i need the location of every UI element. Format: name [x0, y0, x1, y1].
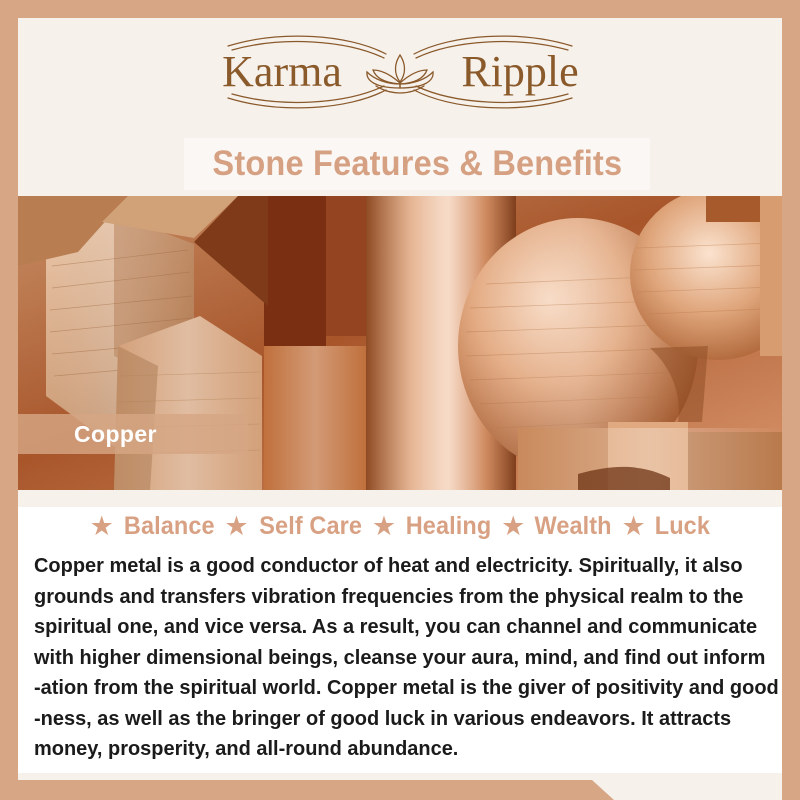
frame-left-border: [0, 0, 18, 800]
benefit-label: Self Care: [256, 512, 364, 541]
logo-word-ripple: Ripple: [461, 47, 578, 96]
star-icon: ★: [220, 513, 252, 540]
benefit-balance: ★ Balance: [86, 512, 221, 541]
frame-top-border: [0, 0, 800, 18]
description-line: money, prosperity, and all-round abundan…: [34, 734, 744, 765]
star-icon: ★: [368, 513, 400, 540]
description-line: grounds and transfers vibration frequenc…: [34, 582, 744, 613]
title-band: Stone Features & Benefits: [18, 126, 782, 196]
lotus-icon: [367, 55, 433, 93]
frame-right-border: [782, 0, 800, 800]
benefit-healing: ★ Healing: [368, 512, 497, 541]
star-icon: ★: [617, 513, 649, 540]
benefits-row: ★ Balance ★ Self Care ★ Healing ★ Wealth…: [18, 507, 782, 541]
photo-caption-label: Copper: [18, 421, 157, 448]
benefit-label: Wealth: [532, 512, 615, 541]
brand-logo: Karma Ripple: [18, 18, 782, 126]
description-line: Copper metal is a good conductor of heat…: [34, 551, 744, 582]
description-line: spiritual one, and vice versa. As a resu…: [34, 612, 744, 643]
logo-artwork: Karma Ripple: [170, 24, 630, 120]
logo-word-karma: Karma: [222, 47, 342, 96]
star-icon: ★: [86, 513, 118, 540]
photo-caption-bar: Copper: [18, 414, 248, 454]
description-line: -ness, as well as the bringer of good lu…: [34, 704, 744, 735]
description-line: -ation from the spiritual world. Copper …: [34, 673, 744, 704]
content-card: ★ Balance ★ Self Care ★ Healing ★ Wealth…: [18, 507, 782, 773]
product-photo: Copper: [18, 196, 782, 490]
page-title: Stone Features & Benefits: [212, 144, 622, 184]
benefit-wealth: ★ Wealth: [497, 512, 617, 541]
benefit-label: Healing: [403, 512, 494, 541]
description-line: with higher dimensional beings, cleanse …: [34, 643, 744, 674]
description-text: Copper metal is a good conductor of heat…: [18, 541, 782, 765]
benefit-label: Balance: [121, 512, 217, 541]
star-icon: ★: [497, 513, 529, 540]
benefit-self-care: ★ Self Care: [220, 512, 368, 541]
benefit-luck: ★ Luck: [617, 512, 714, 541]
benefit-label: Luck: [652, 512, 713, 541]
product-info-graphic: Karma Ripple Stone Features & Benefits: [0, 0, 800, 800]
title-plate: Stone Features & Benefits: [184, 138, 650, 190]
